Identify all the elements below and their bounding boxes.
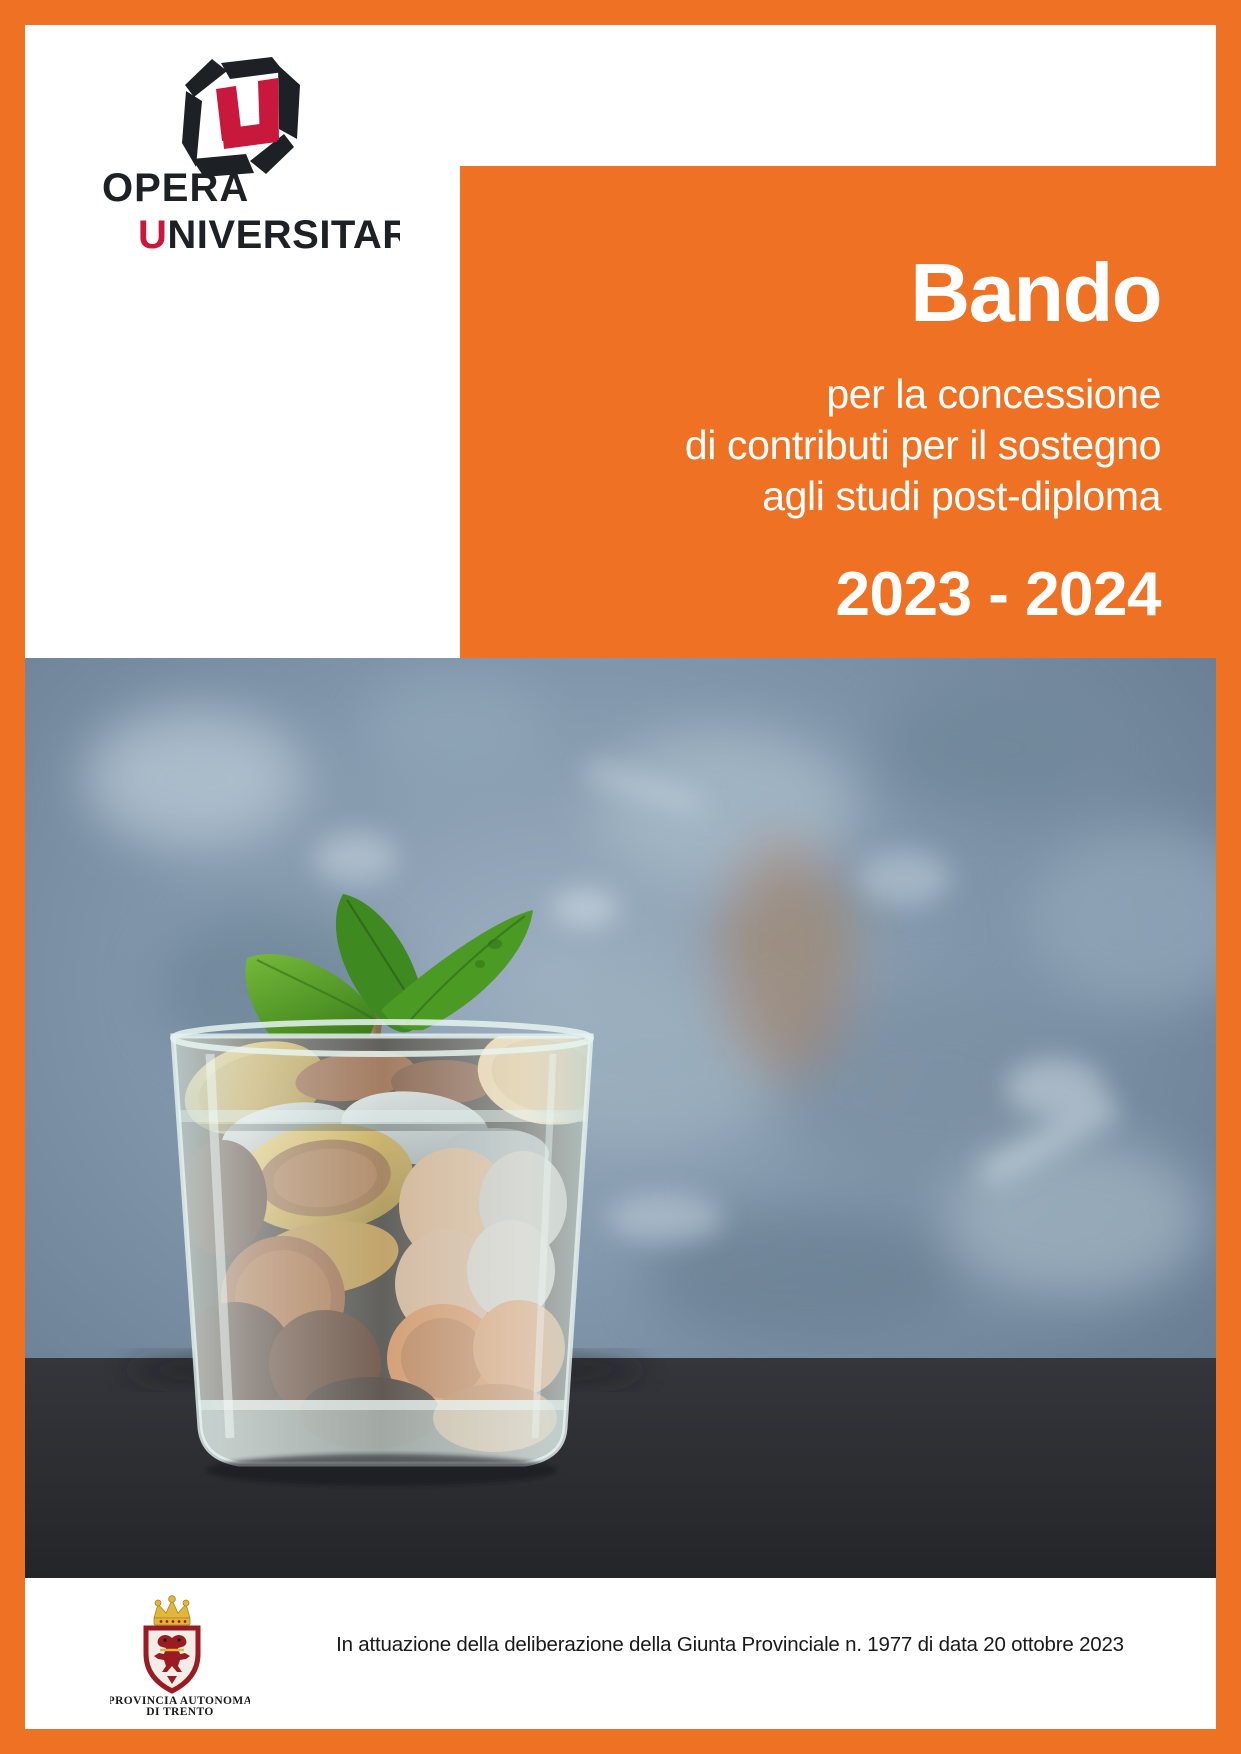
- document-subtitle: per la concessione di contributi per il …: [501, 334, 1161, 521]
- cover-page: OPERA UNIVERSITARIA Bando per la concess…: [0, 0, 1241, 1754]
- title-inner: Bando per la concessione di contributi p…: [501, 166, 1161, 658]
- crest-line2: DI TRENTO: [146, 1706, 213, 1717]
- footer-note: In attuazione della deliberazione della …: [280, 1633, 1180, 1657]
- cover-photo: [25, 658, 1216, 1578]
- logo-panel: OPERA UNIVERSITARIA: [25, 25, 460, 658]
- document-title: Bando: [501, 166, 1161, 334]
- svg-text:UNIVERSITARIA: UNIVERSITARIA: [138, 213, 400, 257]
- subtitle-line-2: di contributi per il sostegno: [501, 420, 1161, 471]
- subtitle-line-3: agli studi post-diploma: [501, 471, 1161, 522]
- provincia-autonoma-di-trento-crest: PROVINCIA AUTONOMA DI TRENTO: [110, 1592, 250, 1717]
- page-footer: PROVINCIA AUTONOMA DI TRENTO In attuazio…: [25, 1578, 1216, 1729]
- opera-universitaria-logo: OPERA UNIVERSITARIA: [100, 55, 400, 260]
- logo-line1: OPERA: [102, 166, 249, 210]
- title-block: Bando per la concessione di contributi p…: [460, 166, 1216, 658]
- logo-mark-icon: [180, 55, 305, 180]
- subtitle-line-1: per la concessione: [501, 369, 1161, 420]
- academic-year: 2023 - 2024: [501, 521, 1161, 630]
- logo-wordmark: OPERA UNIVERSITARIA: [100, 163, 400, 258]
- page-canvas: OPERA UNIVERSITARIA Bando per la concess…: [25, 25, 1216, 1729]
